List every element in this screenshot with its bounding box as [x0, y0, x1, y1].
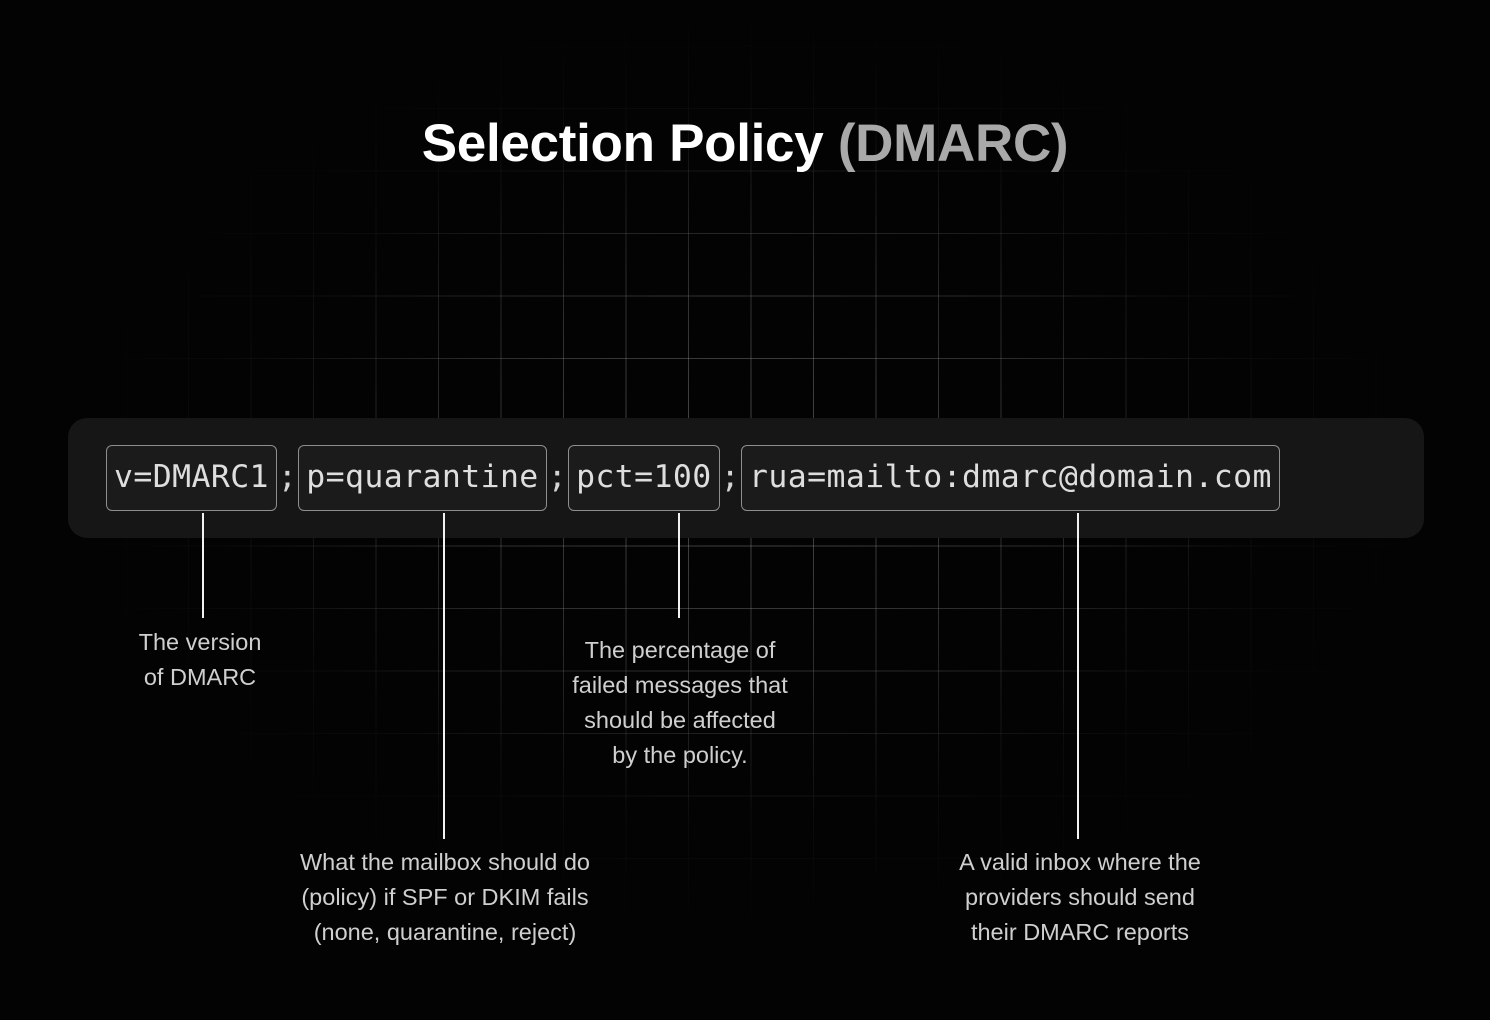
page-title: Selection Policy (DMARC)	[0, 113, 1490, 174]
dmarc-record-panel: v=DMARC1 ; p=quarantine ; pct=100 ; rua=…	[68, 418, 1424, 538]
dmarc-record-string: v=DMARC1 ; p=quarantine ; pct=100 ; rua=…	[106, 445, 1280, 512]
page-title-main: Selection Policy	[422, 114, 838, 173]
annotation-pct: The percentage of failed messages that s…	[510, 633, 850, 773]
annotation-version: The version of DMARC	[60, 625, 340, 695]
record-token-version[interactable]: v=DMARC1	[106, 445, 277, 512]
connector-line-pct	[678, 513, 680, 618]
record-separator-1: ;	[277, 462, 298, 494]
record-token-policy[interactable]: p=quarantine	[298, 445, 546, 512]
record-separator-3: ;	[720, 462, 741, 494]
page-title-subject: (DMARC)	[838, 114, 1068, 173]
record-token-rua[interactable]: rua=mailto:dmarc@domain.com	[741, 445, 1280, 512]
annotation-policy: What the mailbox should do (policy) if S…	[230, 845, 660, 950]
record-token-pct[interactable]: pct=100	[568, 445, 720, 512]
connector-line-rua	[1077, 513, 1079, 839]
record-separator-2: ;	[547, 462, 568, 494]
connector-line-policy	[443, 513, 445, 839]
annotation-rua: A valid inbox where the providers should…	[885, 845, 1275, 950]
connector-line-version	[202, 513, 204, 618]
